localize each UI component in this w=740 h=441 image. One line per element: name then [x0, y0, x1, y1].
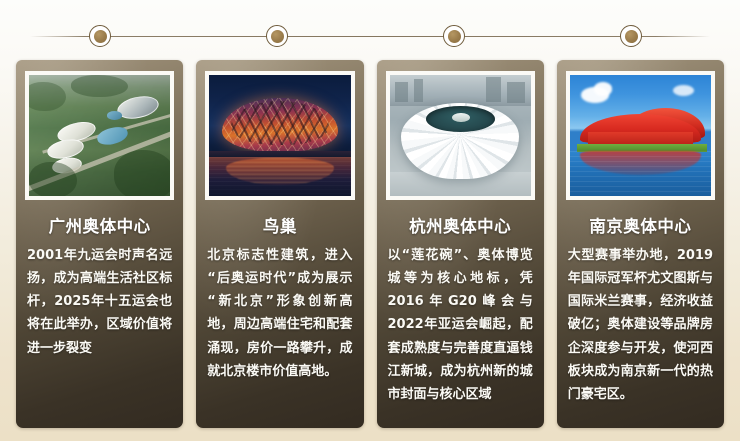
cloud	[594, 82, 612, 95]
tree-cluster	[29, 162, 77, 196]
tree-cluster	[29, 82, 66, 111]
photo-frame	[566, 71, 715, 200]
building	[486, 77, 502, 101]
card-title: 南京奥体中心	[589, 213, 691, 237]
photo-frame	[205, 71, 354, 200]
nanjing-olympic-sports-center-red-stadium-photo	[570, 75, 711, 196]
card-list: 广州奥体中心 2001年九运会时声名远扬，成为高端生活社区标杆，2025年十五运…	[16, 60, 724, 428]
card-body: 北京标志性建筑，进入“后奥运时代”成为展示“新北京”形象创新高地，周边高端住宅和…	[205, 244, 354, 383]
timeline-node-dot-icon	[271, 30, 284, 43]
infographic-stage: 广州奥体中心 2001年九运会时声名远扬，成为高端生活社区标杆，2025年十五运…	[0, 0, 740, 441]
timeline-node-3	[443, 25, 465, 47]
photo-frame	[25, 71, 174, 200]
tree-cluster	[114, 150, 171, 196]
hangzhou-olympic-sports-center-lotus-bowl-photo	[390, 75, 531, 196]
card-nanjing[interactable]: 南京奥体中心 大型赛事举办地，2019年国际冠军杯尤文图斯与国际米兰赛事，经济收…	[557, 60, 724, 428]
building	[507, 82, 525, 103]
card-title: 广州奥体中心	[49, 213, 151, 237]
card-title: 鸟巢	[263, 213, 297, 237]
timeline-node-4	[620, 25, 642, 47]
card-body: 大型赛事举办地，2019年国际冠军杯尤文图斯与国际米兰赛事，经济收益破亿；奥体建…	[566, 244, 715, 406]
water-ripples	[570, 151, 711, 196]
card-birds-nest[interactable]: 鸟巢 北京标志性建筑，进入“后奥运时代”成为展示“新北京”形象创新高地，周边高端…	[196, 60, 363, 428]
stadium-pitch	[452, 113, 470, 123]
stadium-lattice	[222, 98, 338, 152]
card-body: 2001年九运会时声名远扬，成为高端生活社区标杆，2025年十五运会也将在此举办…	[25, 244, 174, 360]
card-guangzhou[interactable]: 广州奥体中心 2001年九运会时声名远扬，成为高端生活社区标杆，2025年十五运…	[16, 60, 183, 428]
tree-cluster	[71, 75, 128, 97]
timeline-node-dot-icon	[625, 30, 638, 43]
card-hangzhou[interactable]: 杭州奥体中心 以“莲花碗”、奥体博览城等为核心地标，凭2016年G20峰会与20…	[377, 60, 544, 428]
timeline-node-1	[89, 25, 111, 47]
timeline-node-dot-icon	[448, 30, 461, 43]
timeline-rail	[30, 36, 710, 37]
pond	[107, 111, 123, 119]
lake	[96, 125, 130, 147]
beijing-birds-nest-stadium-night-photo	[209, 75, 350, 196]
photo-frame	[386, 71, 535, 200]
guangzhou-olympic-sports-center-aerial-photo	[29, 75, 170, 196]
building	[414, 79, 424, 102]
timeline-node-dot-icon	[94, 30, 107, 43]
timeline-node-2	[266, 25, 288, 47]
cloud	[673, 85, 694, 96]
card-body: 以“莲花碗”、奥体博览城等为核心地标，凭2016年G20峰会与2022年亚运会崛…	[386, 244, 535, 406]
card-title: 杭州奥体中心	[409, 213, 511, 237]
building	[395, 82, 408, 101]
